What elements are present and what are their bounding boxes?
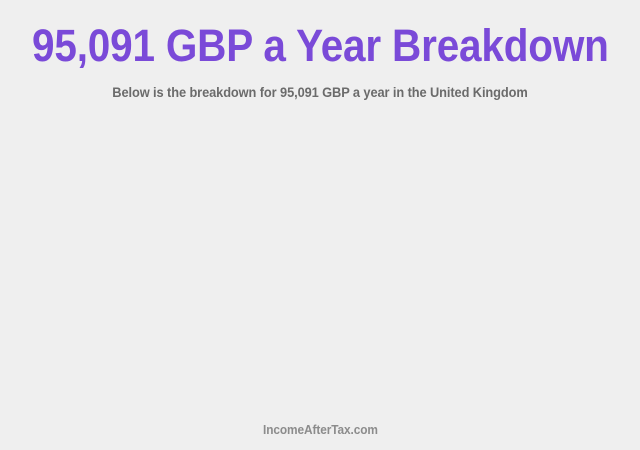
page-title: 95,091 GBP a Year Breakdown xyxy=(32,21,608,71)
chart-area xyxy=(0,118,640,412)
site-credit-label: IncomeAfterTax.com xyxy=(263,423,378,438)
page-subtitle: Below is the breakdown for 95,091 GBP a … xyxy=(16,84,624,101)
page-footer: IncomeAfterTax.com xyxy=(0,421,640,439)
income-breakdown-page: 95,091 GBP a Year Breakdown Below is the… xyxy=(0,0,640,450)
